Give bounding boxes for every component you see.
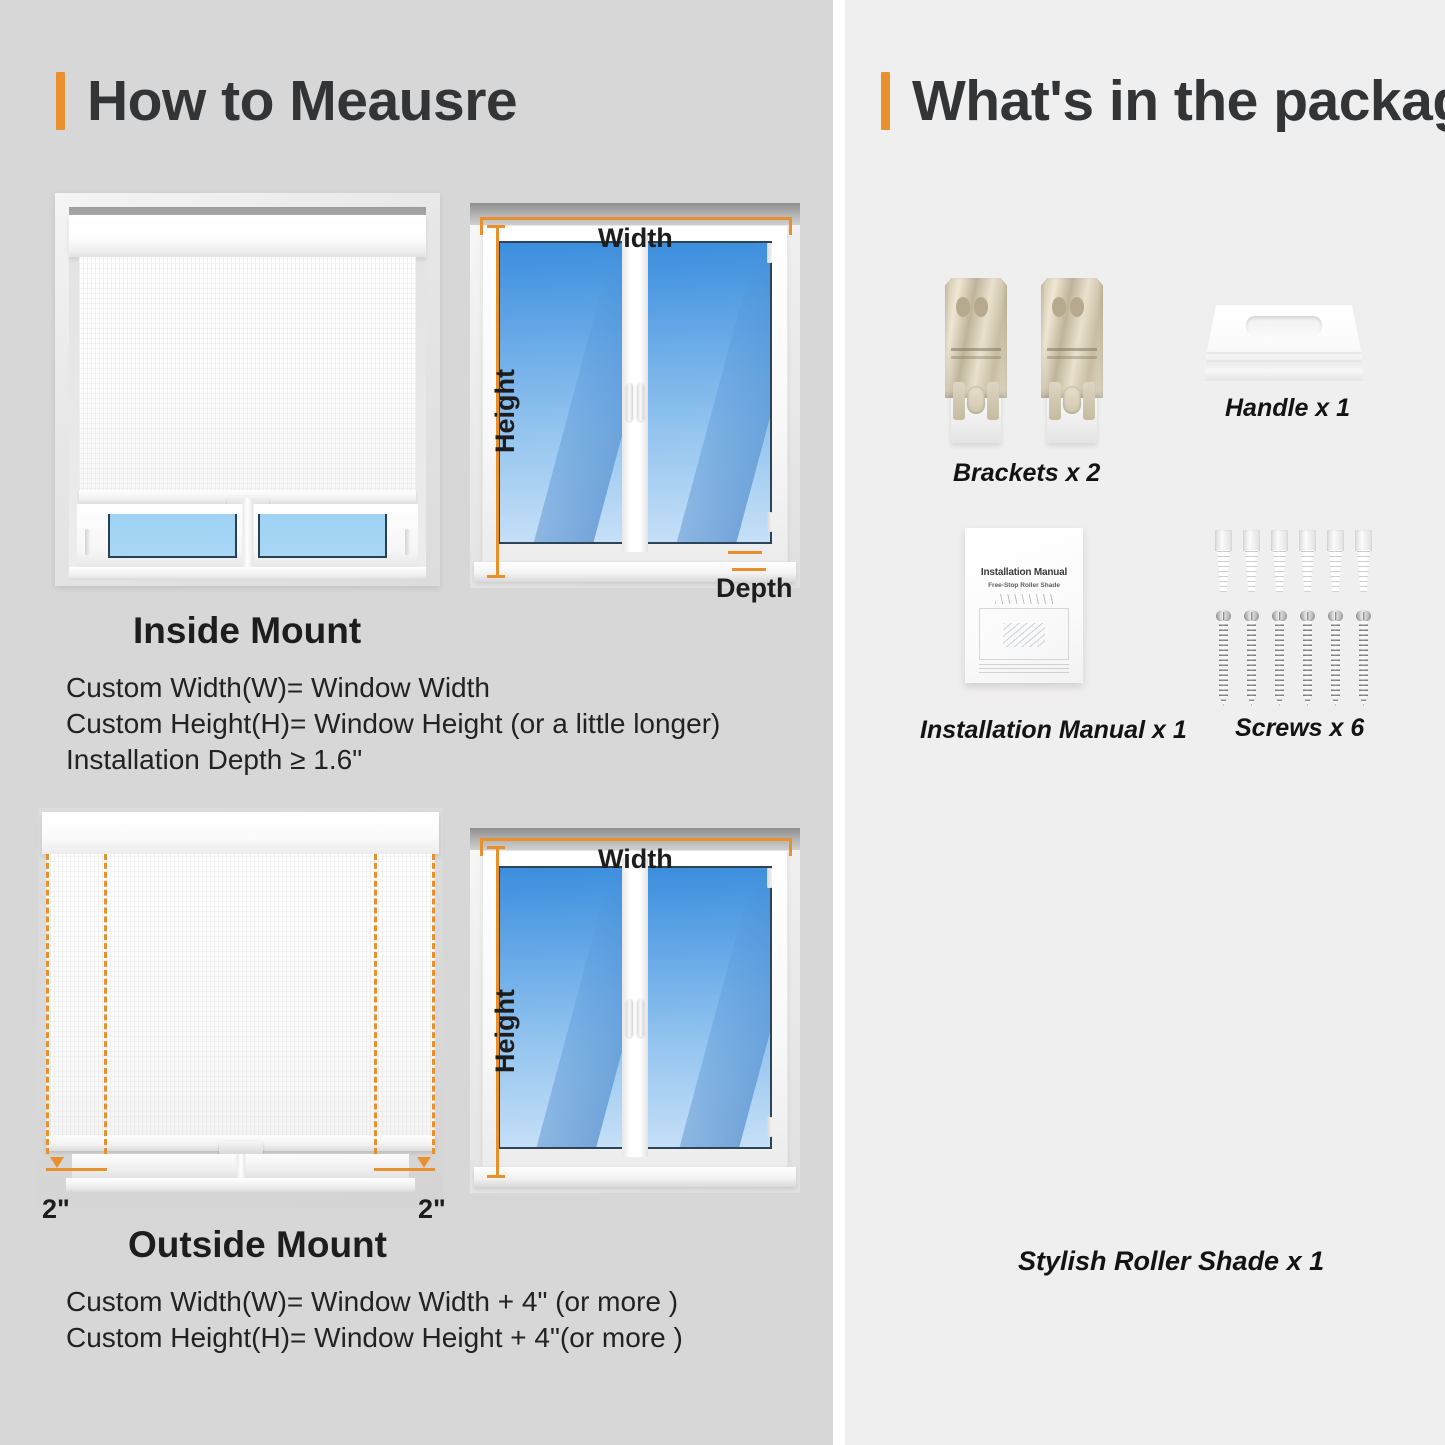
screw-shaft xyxy=(1359,621,1368,706)
inside-mount-shade-illustration xyxy=(55,193,440,586)
outside-mount-line-1: Custom Width(W)= Window Width + 4" (or m… xyxy=(66,1284,683,1320)
height-label: Height xyxy=(492,369,519,453)
inside-mount-title: Inside Mount xyxy=(133,612,361,649)
outside-mount-description: Custom Width(W)= Window Width + 4" (or m… xyxy=(66,1284,683,1356)
width-measure-line xyxy=(480,838,792,841)
screw-icon xyxy=(1328,610,1343,706)
screw-icon xyxy=(1356,610,1371,706)
overhang-measure-right xyxy=(374,1168,435,1171)
window-mullion xyxy=(236,1154,245,1180)
wall-anchor-icon xyxy=(1271,530,1288,592)
bracket-tab-right xyxy=(987,382,999,420)
shade-headrail xyxy=(69,215,426,257)
screw-head xyxy=(1356,610,1371,622)
window-pane-right xyxy=(641,241,772,544)
window-lever-right-icon xyxy=(637,999,644,1037)
window-glass-right xyxy=(258,514,388,558)
bracket-metal xyxy=(1041,278,1103,398)
overhang-arrow-right xyxy=(417,1157,431,1168)
anchor-head xyxy=(1299,530,1316,551)
height-measure-cap-bottom xyxy=(487,575,505,578)
window-lever-left-icon xyxy=(626,383,633,421)
accent-bar-icon xyxy=(881,72,890,130)
roller-shade-label: Stylish Roller Shade x 1 xyxy=(1018,1248,1324,1275)
window-mullion xyxy=(242,498,253,578)
package-contents-panel: What's in the package Brackets x 2 Handl… xyxy=(845,0,1445,1445)
screw-icon xyxy=(1216,610,1231,706)
depth-measure-line-lower xyxy=(732,568,766,571)
overhang-label-right: 2" xyxy=(418,1196,446,1223)
manual-cover-footer-text xyxy=(979,663,1069,673)
window-lever-right-icon xyxy=(637,383,644,421)
shade-pull-handle-icon xyxy=(219,1141,263,1155)
how-to-measure-panel: How to Meausre xyxy=(0,0,833,1445)
handle-icon xyxy=(1205,305,1363,381)
anchor-head xyxy=(1327,530,1344,551)
overhang-label-left: 2" xyxy=(42,1196,70,1223)
screw-head xyxy=(1216,610,1231,622)
window-pane-right xyxy=(641,866,772,1149)
inside-mount-line-2: Custom Height(H)= Window Height (or a li… xyxy=(66,706,720,742)
screw-head xyxy=(1328,610,1343,622)
height-measure-cap-top xyxy=(487,846,505,849)
window-hinge-bottom-icon xyxy=(767,512,772,532)
width-measure-cap-right xyxy=(789,217,792,235)
manual-cover-scribble xyxy=(995,594,1053,604)
package-heading: What's in the package xyxy=(881,72,1445,130)
manual-cover-title: Installation Manual xyxy=(965,568,1083,578)
anchor-head xyxy=(1271,530,1288,551)
screw-shaft xyxy=(1247,621,1256,706)
screws-label: Screws x 6 xyxy=(1235,716,1364,741)
overhang-arrow-left xyxy=(50,1157,64,1168)
screw-shaft xyxy=(1219,621,1228,706)
width-label: Width xyxy=(598,225,673,252)
anchor-body xyxy=(1273,550,1286,592)
screw-head xyxy=(1272,610,1287,622)
manual-cover-subtitle: Free-Stop Roller Shade xyxy=(965,583,1083,590)
outside-mount-line-2: Custom Height(H)= Window Height + 4"(or … xyxy=(66,1320,683,1356)
window-handle-left-icon xyxy=(85,529,90,555)
manual-icon: Installation Manual Free-Stop Roller Sha… xyxy=(965,528,1083,683)
wall-anchor-icon xyxy=(1327,530,1344,592)
window-sill xyxy=(69,567,426,580)
anchor-head xyxy=(1355,530,1372,551)
depth-measure-line-upper xyxy=(728,551,762,554)
accent-bar-icon xyxy=(56,72,65,130)
window-hinge-top-icon xyxy=(767,243,772,263)
screw-icon xyxy=(1244,610,1259,706)
wall-anchor-icon xyxy=(1243,530,1260,592)
wall-anchor-icon xyxy=(1355,530,1372,592)
window-handle-right-icon xyxy=(405,529,410,555)
anchor-body xyxy=(1357,550,1370,592)
height-measure-cap-top xyxy=(487,225,505,228)
screw-shaft xyxy=(1331,621,1340,706)
window-frame xyxy=(482,850,788,1167)
shade-headrail xyxy=(42,812,439,854)
inside-mount-line-3: Installation Depth ≥ 1.6" xyxy=(66,742,720,778)
overhang-guide-right-inner xyxy=(432,854,435,1154)
height-measure-cap-bottom xyxy=(487,1175,505,1178)
width-measure-cap-right xyxy=(789,838,792,856)
anchor-body xyxy=(1245,550,1258,592)
screw-icon xyxy=(1272,610,1287,706)
window-lintel xyxy=(470,203,800,225)
anchor-body xyxy=(1217,550,1230,592)
width-measure-cap-left xyxy=(480,217,483,235)
outside-mount-shade-illustration xyxy=(38,808,443,1208)
anchor-head xyxy=(1243,530,1260,551)
wall-anchor-icon xyxy=(1215,530,1232,592)
width-measure-line xyxy=(480,217,792,220)
overhang-guide-right-outer xyxy=(374,854,377,1154)
manual-cover-illustration xyxy=(979,608,1069,660)
infographic-page: How to Meausre xyxy=(0,0,1445,1445)
overhang-guide-left-inner xyxy=(46,854,49,1154)
window-hinge-top-icon xyxy=(767,868,772,888)
bracket-tab-left xyxy=(1049,382,1061,420)
inside-mount-description: Custom Width(W)= Window Width Custom Hei… xyxy=(66,670,720,777)
brackets-label: Brackets x 2 xyxy=(953,461,1100,486)
anchor-body xyxy=(1301,550,1314,592)
bracket-slot xyxy=(967,386,985,414)
screw-shaft xyxy=(1275,621,1284,706)
outside-mount-title: Outside Mount xyxy=(128,1226,387,1263)
bracket-icon xyxy=(1041,278,1103,443)
handle-slot xyxy=(1246,316,1322,336)
window-frame xyxy=(482,225,788,562)
manual-label: Installation Manual x 1 xyxy=(920,718,1187,743)
anchor-body xyxy=(1329,550,1342,592)
bracket-tab-right xyxy=(1083,382,1095,420)
overhang-guide-left-outer xyxy=(104,854,107,1154)
handle-label: Handle x 1 xyxy=(1225,396,1350,421)
height-label: Height xyxy=(492,989,519,1073)
screw-shaft xyxy=(1303,621,1312,706)
panel-divider xyxy=(833,0,845,1445)
handle-ridge xyxy=(1207,352,1361,354)
anchor-head xyxy=(1215,530,1232,551)
window-sill xyxy=(66,1178,415,1192)
bracket-tab-left xyxy=(953,382,965,420)
inside-mount-line-1: Custom Width(W)= Window Width xyxy=(66,670,720,706)
bracket-metal xyxy=(945,278,1007,398)
screw-head xyxy=(1244,610,1259,622)
wall-anchor-icon xyxy=(1299,530,1316,592)
package-title: What's in the package xyxy=(912,73,1445,130)
bracket-icon xyxy=(945,278,1007,443)
depth-label: Depth xyxy=(716,575,793,602)
window-lever-left-icon xyxy=(626,999,633,1037)
width-label: Width xyxy=(598,846,673,873)
outside-mount-measured-window: Width Height xyxy=(470,828,800,1193)
shade-fabric xyxy=(79,257,416,494)
window-glass-left xyxy=(108,514,238,558)
how-to-measure-heading: How to Meausre xyxy=(56,72,517,130)
how-to-measure-title: How to Meausre xyxy=(87,73,517,130)
screw-icon xyxy=(1300,610,1315,706)
screw-head xyxy=(1300,610,1315,622)
width-measure-cap-left xyxy=(480,838,483,856)
window-sill xyxy=(474,1167,796,1187)
overhang-measure-left xyxy=(46,1168,107,1171)
window-hinge-bottom-icon xyxy=(767,1117,772,1137)
inside-mount-measured-window: Width Height Depth xyxy=(470,203,800,588)
bracket-slot xyxy=(1063,386,1081,414)
